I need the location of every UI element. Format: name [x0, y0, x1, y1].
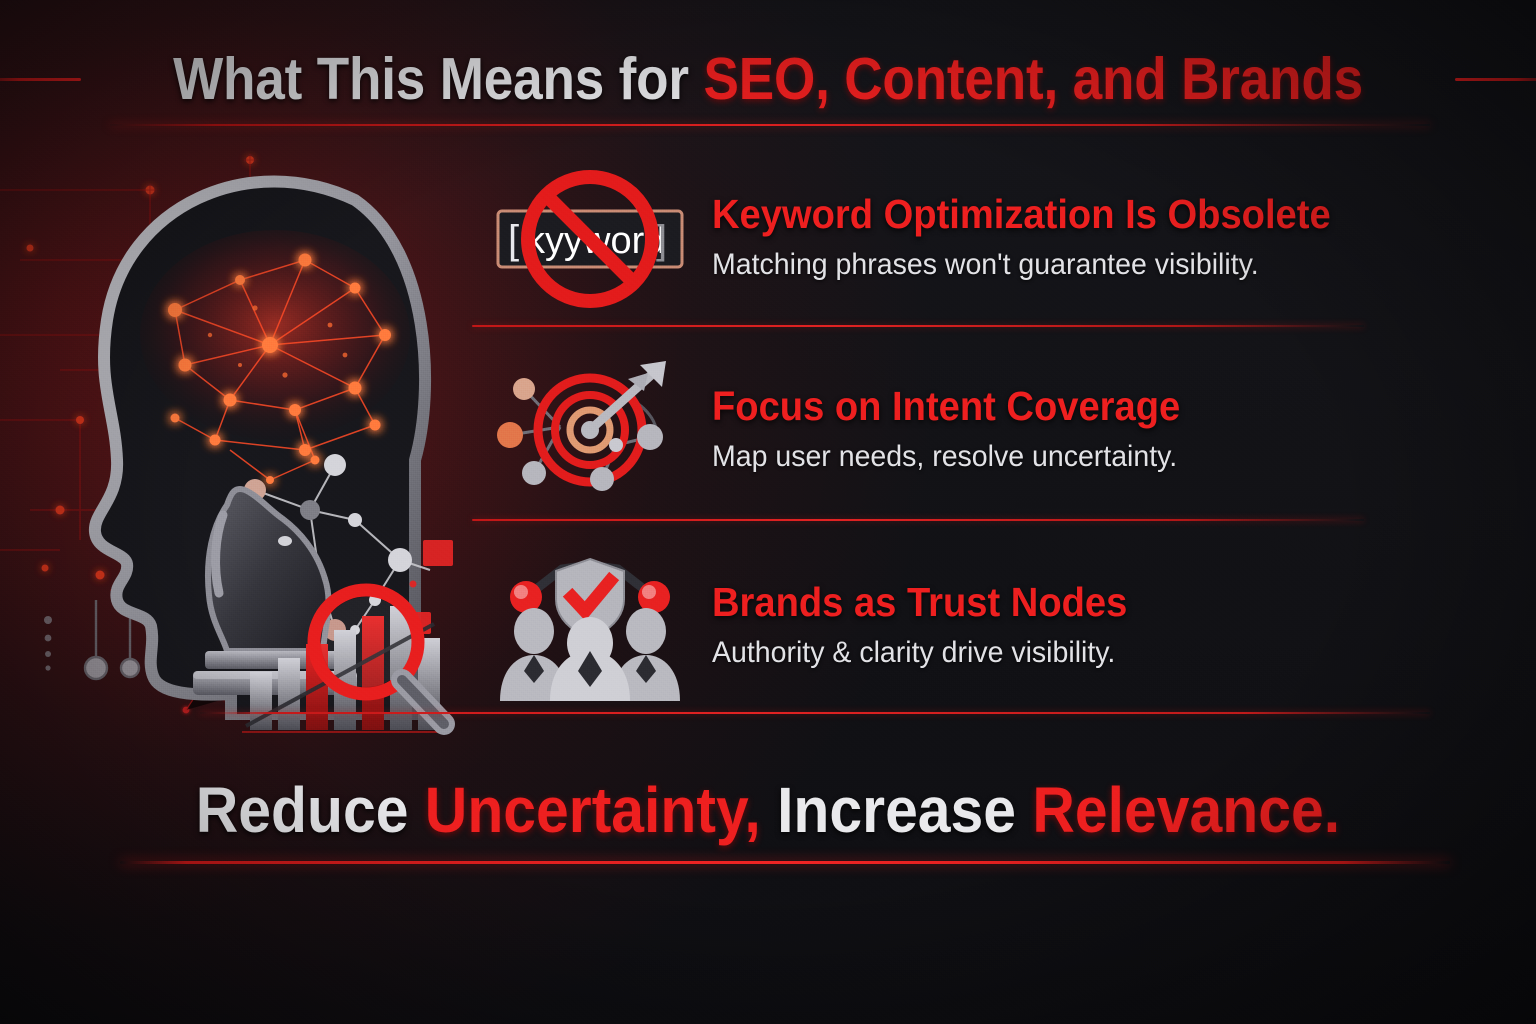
point-text-intent: Focus on Intent Coverage Map user needs,… [712, 385, 1215, 475]
point-title-intent: Focus on Intent Coverage [712, 385, 1180, 428]
point-row-keyword: [ kyyword ] Keyword Optimization Is Obso… [490, 168, 1377, 308]
footer-word-4: Relevance. [1032, 774, 1340, 846]
footer-line: Reduce Uncertainty, Increase Relevance. [196, 778, 1340, 842]
target-arrow-network-icon [490, 357, 690, 503]
people-trust-shield-icon [490, 553, 690, 699]
footer-word-3: Increase [761, 774, 1033, 846]
footer-tagline: Reduce Uncertainty, Increase Relevance. [0, 770, 1536, 850]
point-row-intent: Focus on Intent Coverage Map user needs,… [490, 360, 1215, 500]
header-accent-dash-right [1455, 78, 1536, 81]
header-divider [110, 124, 1430, 126]
page-title-white: What This Means for [173, 46, 703, 112]
divider-3 [200, 712, 1430, 714]
footer-divider [120, 861, 1450, 864]
point-text-keyword: Keyword Optimization Is Obsolete Matchin… [712, 193, 1377, 283]
point-title-trust: Brands as Trust Nodes [712, 581, 1127, 624]
divider-2 [472, 519, 1364, 521]
svg-text:[: [ [508, 218, 519, 262]
point-subtitle-intent: Map user needs, resolve uncertainty. [712, 439, 1190, 475]
point-subtitle-trust: Authority & clarity drive visibility. [712, 635, 1136, 671]
bar-chart-magnifier-icon [238, 580, 498, 740]
no-keyword-icon: [ kyyword ] [490, 165, 690, 311]
footer-word-2: Uncertainty, [425, 774, 761, 846]
divider-1 [472, 325, 1364, 327]
header-accent-dash-left [0, 78, 81, 81]
point-subtitle-keyword: Matching phrases won't guarantee visibil… [712, 247, 1344, 283]
left-illustration [0, 120, 500, 740]
point-row-trust: Brands as Trust Nodes Authority & clarit… [490, 552, 1159, 700]
page-title-red: SEO, Content, and Brands [703, 46, 1362, 112]
page-title: What This Means for SEO, Content, and Br… [173, 50, 1363, 109]
infographic-poster: What This Means for SEO, Content, and Br… [0, 0, 1536, 1024]
point-title-keyword: Keyword Optimization Is Obsolete [712, 193, 1331, 236]
footer-word-1: Reduce [196, 774, 425, 846]
point-text-trust: Brands as Trust Nodes Authority & clarit… [712, 581, 1159, 671]
header: What This Means for SEO, Content, and Br… [0, 38, 1536, 120]
